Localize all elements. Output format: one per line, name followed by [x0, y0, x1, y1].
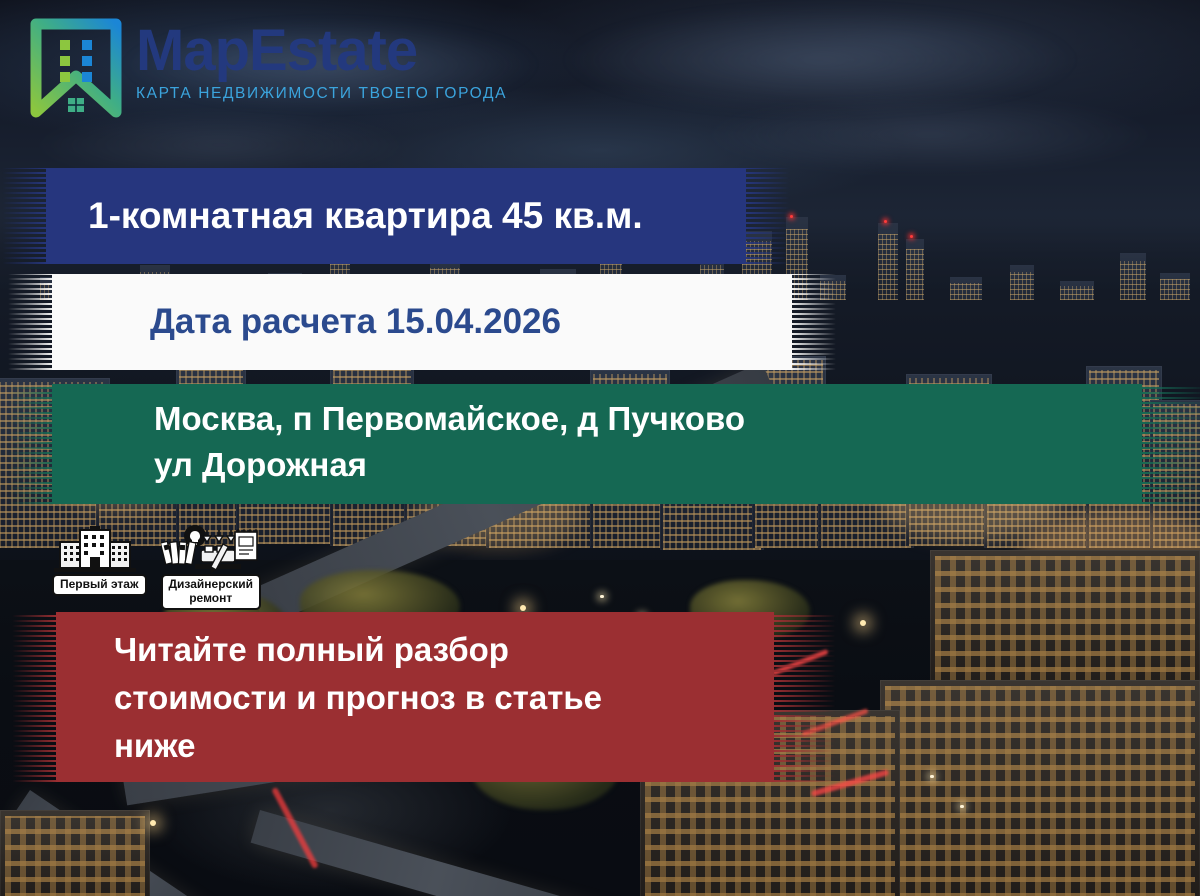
address-banner: Москва, п Первомайское, д Пучково ул Дор…	[52, 384, 1142, 504]
banner-fray-left	[8, 384, 54, 504]
badge-label: Дизайнерский ремонт	[161, 574, 261, 610]
banner-fray-left	[2, 168, 48, 264]
interior-design-icon	[161, 524, 259, 576]
call-to-action-banner: Читайте полный разбор стоимости и прогно…	[56, 612, 774, 782]
banner-fray-right	[1140, 384, 1200, 504]
banner-fray-left	[12, 612, 58, 782]
brand-name: MapEstate	[136, 22, 507, 80]
property-title-text: 1-комнатная квартира 45 кв.м.	[46, 168, 746, 264]
bookmark-building-icon	[30, 18, 122, 118]
badge-first-floor: Первый этаж	[52, 524, 147, 610]
cloud	[700, 95, 1160, 175]
brand-logo[interactable]: MapEstate КАРТА НЕДВИЖИМОСТИ ТВОЕГО ГОРО…	[30, 18, 507, 118]
call-to-action-text: Читайте полный разбор стоимости и прогно…	[56, 612, 774, 770]
badge-label: Первый этаж	[52, 574, 147, 596]
calculation-date-banner: Дата расчета 15.04.2026	[52, 274, 792, 370]
feature-badges: Первый этаж	[52, 524, 261, 610]
banner-fray-right	[772, 612, 836, 782]
banner-fray-right	[744, 168, 790, 264]
address-text: Москва, п Первомайское, д Пучково ул Дор…	[52, 384, 1142, 487]
banner-fray-right	[790, 274, 836, 370]
banner-fray-left	[8, 274, 54, 370]
calculation-date-text: Дата расчета 15.04.2026	[52, 274, 792, 370]
property-title-banner: 1-комнатная квартира 45 кв.м.	[46, 168, 746, 264]
brand-tagline: КАРТА НЕДВИЖИМОСТИ ТВОЕГО ГОРОДА	[136, 85, 507, 103]
apartment-building-icon	[52, 524, 138, 576]
badge-designer-renovation: Дизайнерский ремонт	[161, 524, 261, 610]
